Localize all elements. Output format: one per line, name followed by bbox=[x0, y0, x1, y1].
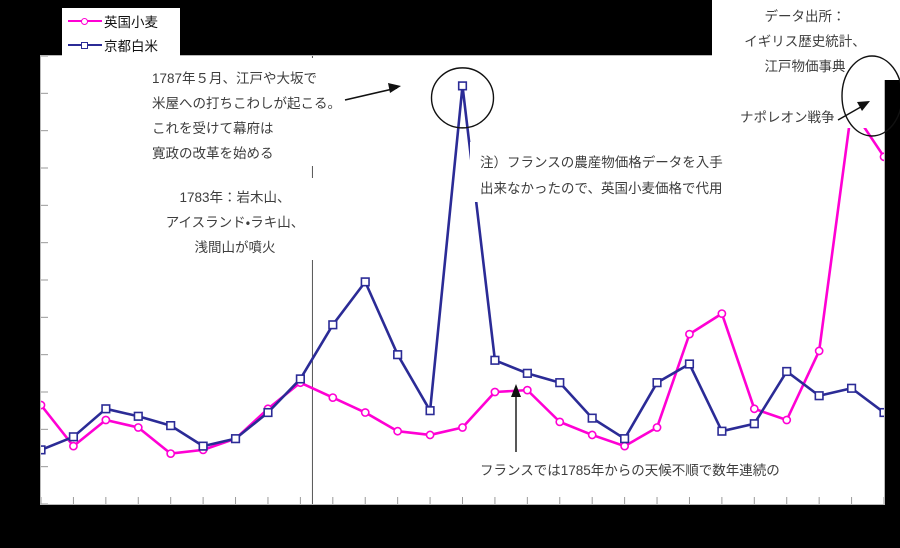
highlight-circle-wheat-peak bbox=[842, 56, 900, 136]
legend-item-kyoto-rice: 京都白米 bbox=[68, 34, 158, 56]
legend-label-kyoto-rice: 京都白米 bbox=[104, 35, 158, 55]
arrow-line-1787 bbox=[345, 88, 397, 100]
legend-swatch-kyoto-rice bbox=[68, 39, 102, 51]
chart-screenshot: 英国小麦 京都白米 1787年５月、江戸や大坂で 米屋への打ちこわしが起こる。 … bbox=[0, 0, 900, 548]
arrow-head-1787 bbox=[388, 83, 401, 93]
overlay-marks bbox=[0, 0, 900, 548]
legend-item-uk-wheat: 英国小麦 bbox=[68, 10, 158, 32]
legend-label-uk-wheat: 英国小麦 bbox=[104, 11, 158, 31]
legend-swatch-uk-wheat bbox=[68, 15, 102, 27]
arrow-head-france bbox=[511, 384, 521, 397]
legend: 英国小麦 京都白米 bbox=[62, 8, 180, 60]
arrow-head-napoleon bbox=[857, 101, 870, 111]
